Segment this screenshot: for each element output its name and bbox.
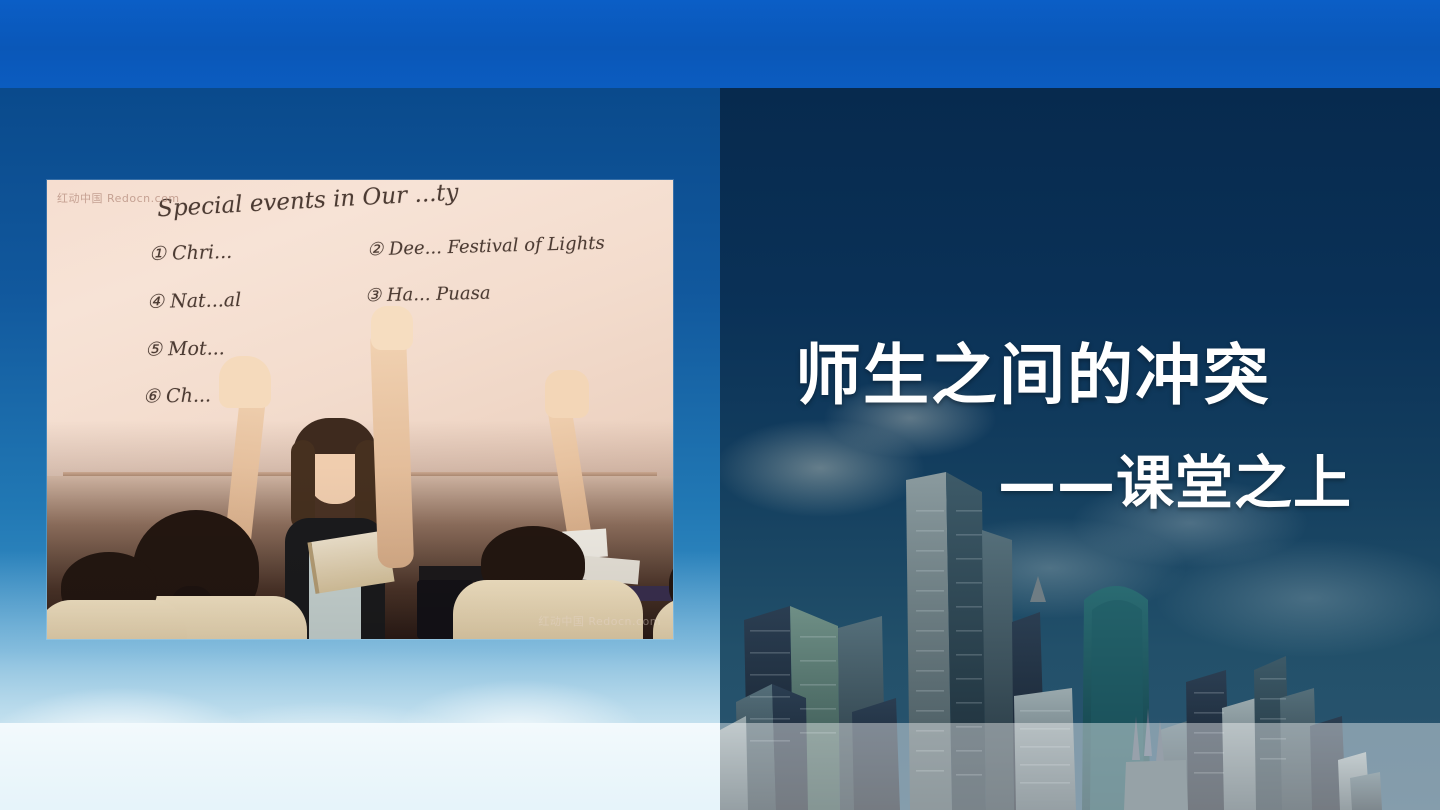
slide-subtitle: ——课堂之上 — [998, 436, 1352, 520]
watermark-bottom-right: 红动中国 Redocn.com — [538, 613, 661, 629]
title-block: 师生之间的冲突 ——课堂之上 — [720, 88, 1440, 810]
top-banner — [0, 0, 1440, 88]
photo-content: Special events in Our ...ty ① Chri... ② … — [47, 180, 673, 639]
presentation-slide: Special events in Our ...ty ① Chri... ② … — [0, 0, 1440, 810]
photo-vignette — [47, 180, 673, 639]
watermark-top-left: 红动中国 Redocn.com — [57, 190, 180, 206]
classroom-photo: Special events in Our ...ty ① Chri... ② … — [47, 180, 673, 639]
slide-title: 师生之间的冲突 — [795, 322, 1271, 418]
bottom-light-band-left — [0, 723, 720, 810]
